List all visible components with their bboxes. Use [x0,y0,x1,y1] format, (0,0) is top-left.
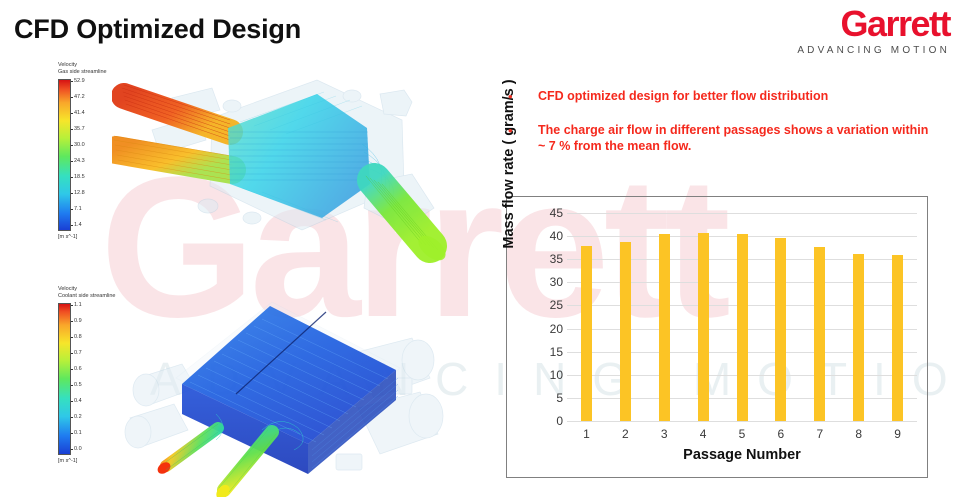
garrett-logo: Garrett ADVANCING MOTION [797,6,950,56]
chart-bar-slot [684,213,723,421]
chart-bar[interactable] [659,234,670,421]
chart-x-tick-label: 2 [606,427,645,441]
legend-tick: 0.5 [74,383,82,389]
chart-bar[interactable] [892,255,903,421]
chart-y-tick-label: 0 [556,415,563,427]
bullet-item: • The charge air flow in different passa… [508,122,938,156]
chart-y-tick-label: 5 [556,392,563,404]
chart-y-tick-label: 40 [550,230,563,242]
chart-bar[interactable] [775,238,786,421]
velocity-legend-gas: Velocity Gas side streamline 52.9 47.2 4… [58,62,120,240]
legend-subtitle: Coolant side streamline [58,293,120,300]
legend-tick: 52.9 [74,79,85,85]
legend-tick: 47.2 [74,95,85,101]
legend-tick: 35.7 [74,127,85,133]
bullet-item: • CFD optimized design for better flow d… [508,88,938,106]
chart-x-axis-ticks: 123456789 [567,427,917,441]
chart-y-tick-label: 25 [550,299,563,311]
legend-subtitle: Gas side streamline [58,69,120,76]
cfd-image-gas-side: Velocity Gas side streamline 52.9 47.2 4… [50,58,450,273]
legend-tick: 0.7 [74,351,82,357]
chart-plot-area [567,213,917,421]
chart-x-tick-label: 7 [800,427,839,441]
bullet-marker-icon: • [508,122,538,156]
chart-bar-slot [567,213,606,421]
legend-unit: [m s^-1] [58,234,120,240]
chart-bar[interactable] [737,234,748,421]
chart-bar[interactable] [581,246,592,421]
logo-wordmark: Garrett [797,6,950,42]
velocity-legend-coolant: Velocity Coolant side streamline 1.1 0.9… [58,286,120,464]
legend-tick: 1.4 [74,223,85,229]
chart-x-tick-label: 4 [684,427,723,441]
chart-bars [567,213,917,421]
chart-bar-slot [800,213,839,421]
chart-bar[interactable] [698,233,709,421]
chart-x-tick-label: 6 [761,427,800,441]
chart-bar-slot [761,213,800,421]
chart-y-tick-label: 35 [550,253,563,265]
chart-x-tick-label: 5 [723,427,762,441]
chart-x-tick-label: 9 [878,427,917,441]
legend-title: Velocity [58,62,120,69]
legend-tick: 18.5 [74,175,85,181]
chart-gridline [567,421,917,422]
chart-y-tick-label: 45 [550,207,563,219]
chart-y-tick-label: 10 [550,369,563,381]
legend-tick: 41.4 [74,111,85,117]
bullet-text: The charge air flow in different passage… [538,122,938,156]
legend-tick: 0.0 [74,447,82,453]
legend-tick: 1.1 [74,303,82,309]
cfd-streamline-render-gas [112,58,448,273]
legend-title: Velocity [58,286,120,293]
legend-colorbar-icon [58,79,71,231]
legend-tick: 7.1 [74,207,85,213]
legend-tick: 0.6 [74,367,82,373]
mass-flow-bar-chart: Mass flow rate ( gram/s ) 45403530252015… [506,196,928,478]
page-title: CFD Optimized Design [14,14,301,45]
chart-x-tick-label: 8 [839,427,878,441]
chart-x-axis-title: Passage Number [567,447,917,463]
bullet-list: • CFD optimized design for better flow d… [508,88,938,171]
legend-unit: [m s^-1] [58,458,120,464]
chart-bar-slot [645,213,684,421]
chart-x-tick-label: 1 [567,427,606,441]
bullet-text: CFD optimized design for better flow dis… [538,88,828,106]
legend-tick: 0.4 [74,399,82,405]
cfd-image-coolant-side: Velocity Coolant side streamline 1.1 0.9… [50,282,450,497]
chart-y-axis-ticks: 454035302520151050 [533,213,563,421]
chart-bar-slot [606,213,645,421]
bullet-marker-icon: • [508,88,538,106]
legend-tick: 0.9 [74,319,82,325]
legend-tick: 24.3 [74,159,85,165]
chart-y-tick-label: 20 [550,323,563,335]
legend-tick: 0.1 [74,431,82,437]
legend-tick: 0.8 [74,335,82,341]
chart-y-tick-label: 30 [550,276,563,288]
chart-x-tick-label: 3 [645,427,684,441]
legend-colorbar-icon [58,303,71,455]
legend-tick: 30.0 [74,143,85,149]
cfd-streamline-render-coolant [112,282,448,497]
chart-bar[interactable] [853,254,864,421]
legend-tick: 0.2 [74,415,82,421]
legend-tick: 12.8 [74,191,85,197]
chart-y-tick-label: 15 [550,346,563,358]
logo-tagline: ADVANCING MOTION [797,45,950,56]
chart-bar[interactable] [814,247,825,421]
chart-bar-slot [878,213,917,421]
chart-bar-slot [839,213,878,421]
chart-bar-slot [723,213,762,421]
chart-bar[interactable] [620,242,631,421]
